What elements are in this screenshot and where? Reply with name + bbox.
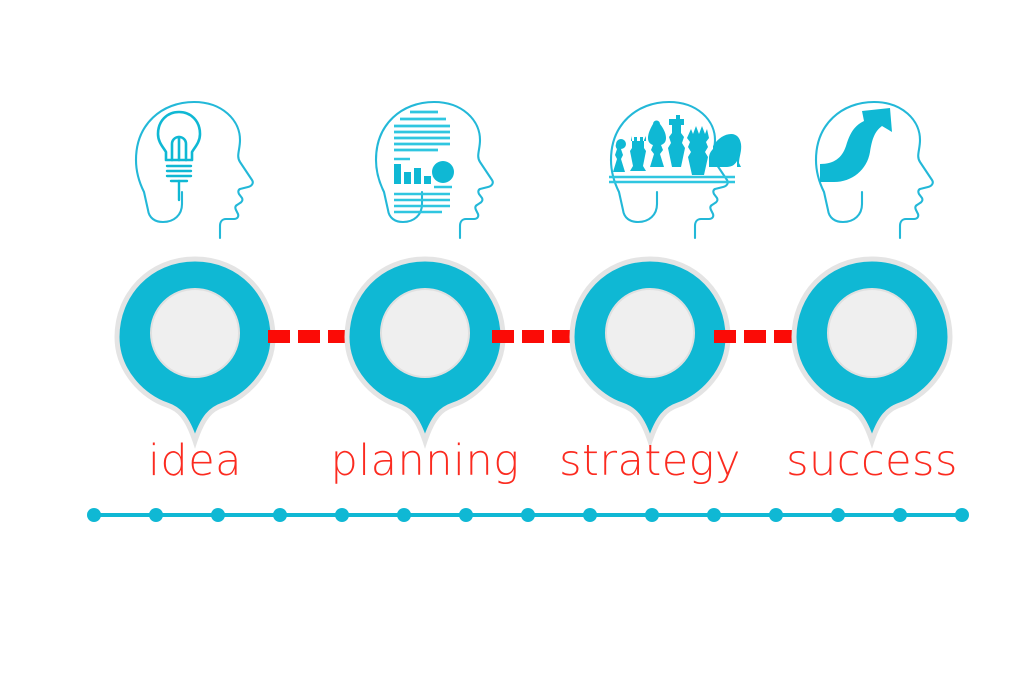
- dash-segment: [268, 330, 290, 343]
- dash-segment: [522, 330, 544, 343]
- step-pin-success[interactable]: [782, 255, 962, 445]
- dot-rule-dot: [769, 508, 783, 522]
- step-label-idea: idea: [65, 433, 325, 489]
- head-lightbulb-icon: [110, 88, 270, 238]
- dot-rule-dot: [707, 508, 721, 522]
- head-document-chart-icon: [350, 88, 510, 238]
- dot-rule-dot: [955, 508, 969, 522]
- dash-segment: [492, 330, 514, 343]
- step-pin-row: [0, 255, 1024, 445]
- dot-rule-dot: [645, 508, 659, 522]
- dot-rule-dot: [521, 508, 535, 522]
- dot-rule-dot: [397, 508, 411, 522]
- footer-dot-rule: [0, 500, 1024, 530]
- step-pin-idea[interactable]: [105, 255, 285, 445]
- dot-rule-dot: [583, 508, 597, 522]
- dash-segment: [744, 330, 766, 343]
- dot-rule-dot: [831, 508, 845, 522]
- dash-segment: [298, 330, 320, 343]
- dot-rule-dot: [87, 508, 101, 522]
- dot-rule-dot: [459, 508, 473, 522]
- dash-segment: [714, 330, 736, 343]
- head-rising-arrow-icon: [790, 88, 950, 238]
- step-label-row: idea planning strategy success: [0, 433, 1024, 493]
- step-pin-strategy[interactable]: [560, 255, 740, 445]
- dot-rule-dot: [149, 508, 163, 522]
- step-label-success: success: [742, 433, 1002, 489]
- dot-rule-dot: [335, 508, 349, 522]
- step-label-planning: planning: [295, 433, 555, 489]
- step-label-strategy: strategy: [520, 433, 780, 489]
- dot-rule-dot: [893, 508, 907, 522]
- dot-rule-dot: [273, 508, 287, 522]
- head-chess-icon: [585, 88, 745, 238]
- dot-rule-dot: [211, 508, 225, 522]
- infographic-canvas: idea planning strategy success: [0, 0, 1024, 682]
- head-icon-row: [0, 88, 1024, 238]
- step-pin-planning[interactable]: [335, 255, 515, 445]
